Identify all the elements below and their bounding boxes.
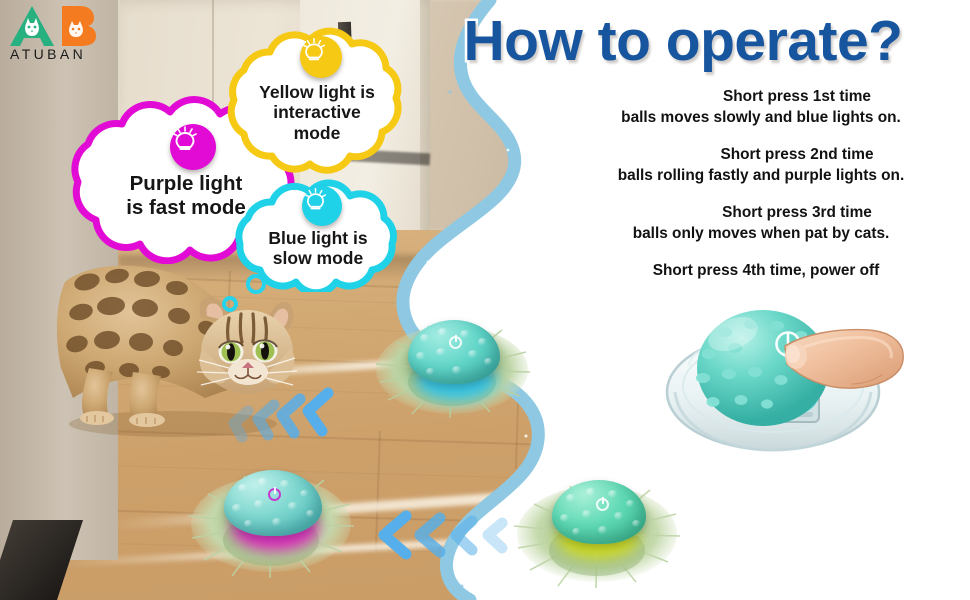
instruction-step-4-line1: Short press 4th time, power off: [552, 260, 970, 281]
instruction-step-3-line1: Short press 3rd time: [552, 202, 970, 223]
instruction-step-2: Short press 2nd time balls rolling fastl…: [552, 144, 970, 186]
toy-top: [372, 308, 532, 418]
instruction-step-3: Short press 3rd time balls only moves wh…: [552, 202, 970, 244]
instruction-step-1-line2: balls moves slowly and blue lights on.: [552, 107, 970, 128]
toy-bottom-right: [512, 468, 682, 588]
instruction-step-3-line2: balls only moves when pat by cats.: [552, 223, 970, 244]
bubble-yellow-text: Yellow light isinteractivemode: [224, 82, 410, 143]
bubble-yellow-mode[interactable]: Yellow light isinteractivemode: [224, 24, 410, 176]
instruction-step-2-line1: Short press 2nd time: [552, 144, 970, 165]
instruction-step-1: Short press 1st time balls moves slowly …: [552, 86, 970, 128]
instruction-step-1-line1: Short press 1st time: [552, 86, 970, 107]
page-title: How to operate?: [398, 6, 968, 78]
bubble-blue-mode[interactable]: Blue light isslow mode: [226, 178, 410, 292]
bubble-blue-text: Blue light isslow mode: [226, 228, 410, 269]
arrows-upper: [200, 385, 350, 445]
brand-name: ATUBAN: [10, 46, 86, 62]
hero-ball-with-hand: [655, 300, 905, 460]
instruction-step-4: Short press 4th time, power off: [552, 260, 970, 281]
arrows-lower: [370, 508, 520, 564]
power-button-icon[interactable]: [268, 488, 281, 501]
thought-bubble-dot-small: [222, 296, 238, 312]
infographic-canvas: How to operate? Short press 1st time bal…: [0, 0, 970, 600]
instructions-list: Short press 1st time balls moves slowly …: [552, 86, 970, 297]
power-button-icon[interactable]: [449, 336, 462, 349]
power-button-icon[interactable]: [596, 498, 609, 511]
lightbulb-icon-purple: [170, 124, 216, 170]
lightbulb-icon-blue: [302, 186, 342, 226]
instruction-step-2-line2: balls rolling fastly and purple lights o…: [552, 165, 970, 186]
lightbulb-icon-yellow: [300, 36, 342, 78]
brand-logo[interactable]: ATUBAN: [8, 4, 118, 66]
toy-bottom-left: [186, 458, 356, 578]
